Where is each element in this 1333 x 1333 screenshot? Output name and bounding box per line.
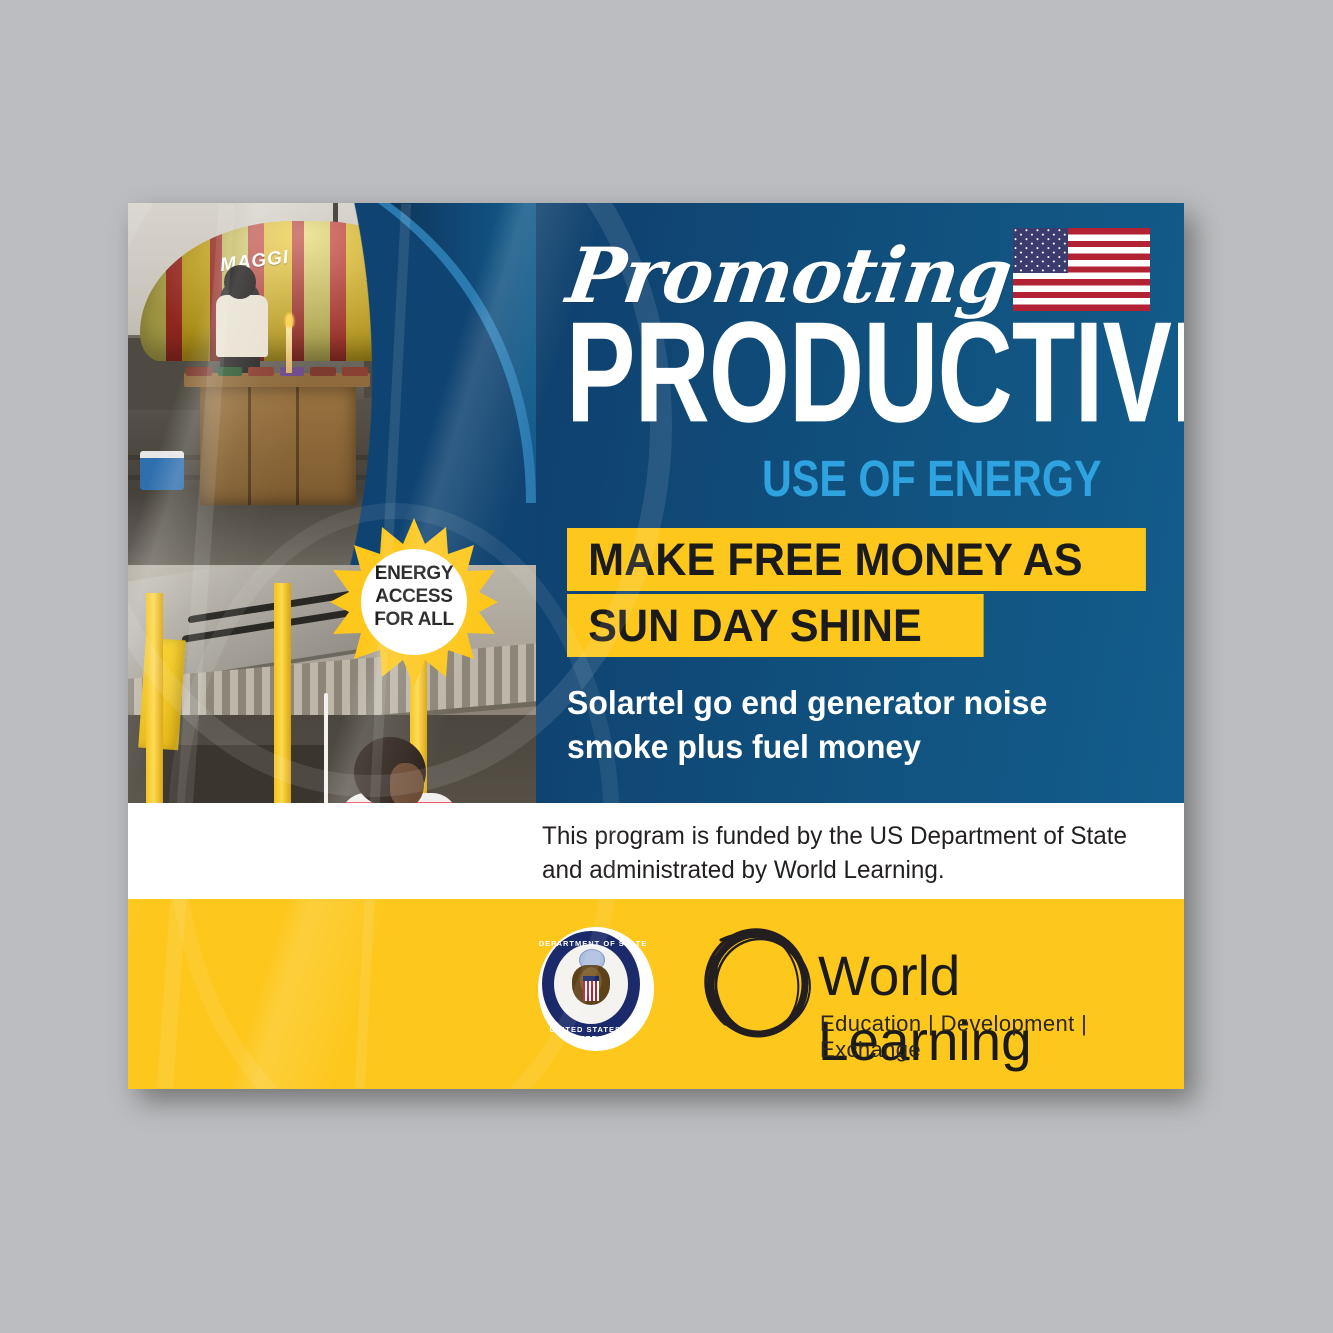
brush-circle-icon [699, 924, 817, 1044]
headline-sub: USE OF ENERGY [762, 451, 1101, 509]
world-learning-tagline: Education | Development | Exchange [820, 1011, 1184, 1063]
funding-note: This program is funded by the US Departm… [542, 819, 1143, 887]
subline-text: Solartel go end generator noise smoke pl… [567, 681, 1110, 769]
energy-access-badge: ENERGY ACCESS FOR ALL [330, 518, 498, 686]
badge-line-3: FOR ALL [361, 608, 467, 631]
badge-label: ENERGY ACCESS FOR ALL [361, 562, 467, 631]
department-of-state-seal-icon: DEPARTMENT OF STATE UNITED STATES OF AME… [532, 925, 654, 1047]
badge-line-2: ACCESS [361, 585, 467, 608]
poster: MAGGI MAGGI [128, 203, 1184, 1089]
seal-shield [583, 976, 599, 1001]
flag-stars [1013, 228, 1068, 273]
photo-street-vendor: MAGGI MAGGI [128, 203, 536, 565]
headline-main: PRODUCTIVE [566, 301, 1184, 444]
callout-line-1: MAKE FREE MONEY AS [567, 528, 1146, 591]
poster-canvas: MAGGI MAGGI [0, 0, 1333, 1333]
callout-line-2: SUN DAY SHINE [567, 594, 984, 657]
badge-line-1: ENERGY [361, 562, 467, 585]
photo-curve-mask [128, 203, 536, 565]
footer-band: DEPARTMENT OF STATE UNITED STATES OF AME… [128, 899, 1184, 1089]
seal-bottom-text: UNITED STATES OF AMERICA [532, 1025, 654, 1043]
seal-top-text: DEPARTMENT OF STATE [532, 939, 654, 948]
